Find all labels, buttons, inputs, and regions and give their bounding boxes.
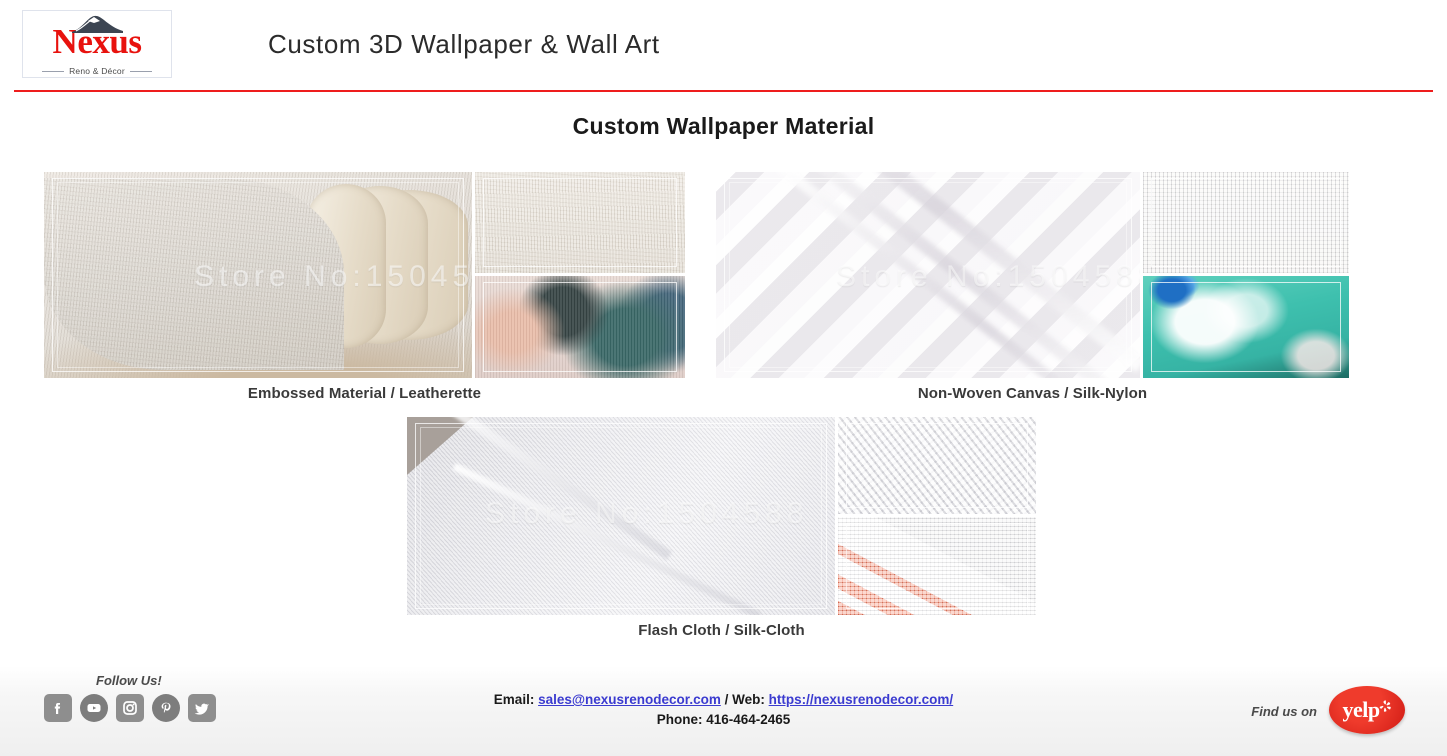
tagline-rule-right — [130, 71, 152, 72]
main-image-embossed[interactable]: Store No:1504588 — [44, 172, 472, 378]
main-image-flashcloth[interactable]: Store No:1504588 — [407, 417, 835, 615]
logo-tagline-row: Reno & Décor — [23, 66, 171, 76]
contact-line-1: Email: sales@nexusrenodecor.com / Web: h… — [0, 690, 1447, 710]
mountain-icon — [68, 14, 126, 34]
detail-image-red-print[interactable] — [838, 517, 1036, 615]
detail-stack — [838, 417, 1036, 615]
detail-image-emboss-texture[interactable] — [475, 172, 685, 273]
main-image-nonwoven[interactable]: Store No:1504588 — [716, 172, 1140, 378]
material-group-flashcloth[interactable]: Store No:1504588 Flash Cloth / Silk-Clot… — [407, 417, 1036, 639]
yelp-burst-icon — [1378, 699, 1392, 713]
phone-number: 416-464-2465 — [706, 712, 790, 727]
detail-image-bird-print[interactable] — [475, 276, 685, 378]
image-row: Store No:1504588 — [407, 417, 1036, 615]
group-caption: Non-Woven Canvas / Silk-Nylon — [716, 385, 1349, 402]
phone-label: Phone: — [657, 712, 703, 727]
website-link[interactable]: https://nexusrenodecor.com/ — [769, 692, 954, 707]
tagline-rule-left — [42, 71, 64, 72]
detail-stack — [1143, 172, 1349, 378]
contact-info: Email: sales@nexusrenodecor.com / Web: h… — [0, 690, 1447, 731]
email-label: Email: — [494, 692, 535, 707]
detail-image-dotted-weave[interactable] — [838, 417, 1036, 514]
page-title: Custom 3D Wallpaper & Wall Art — [268, 29, 660, 60]
contact-separator: / — [725, 692, 729, 707]
detail-stack — [475, 172, 685, 378]
page-header: Nexus Reno & Décor Custom 3D Wallpaper &… — [0, 0, 1447, 88]
material-group-nonwoven[interactable]: Store No:1504588 Non-Woven Canvas / Silk… — [716, 172, 1349, 402]
detail-image-floral-print[interactable] — [1143, 276, 1349, 378]
email-link[interactable]: sales@nexusrenodecor.com — [538, 692, 721, 707]
material-group-embossed[interactable]: Store No:1504588 Embossed Material / Lea… — [44, 172, 685, 402]
find-us-label: Find us on — [1251, 704, 1317, 719]
yelp-badge[interactable]: yelp — [1329, 686, 1405, 734]
image-row: Store No:1504588 — [44, 172, 685, 378]
web-label: Web: — [732, 692, 765, 707]
contact-line-2: Phone: 416-464-2465 — [0, 710, 1447, 730]
detail-image-mesh-weave[interactable] — [1143, 172, 1349, 273]
yelp-wordmark: yelp — [1342, 697, 1379, 723]
header-divider — [14, 90, 1433, 92]
group-caption: Embossed Material / Leatherette — [44, 385, 685, 402]
group-caption: Flash Cloth / Silk-Cloth — [407, 622, 1036, 639]
image-row: Store No:1504588 — [716, 172, 1349, 378]
brand-logo[interactable]: Nexus Reno & Décor — [22, 10, 172, 78]
section-title: Custom Wallpaper Material — [0, 113, 1447, 140]
follow-us-label: Follow Us! — [96, 673, 162, 688]
page-footer: Follow Us! Email: sales@nexusrenodecor.c… — [0, 666, 1447, 756]
logo-tagline: Reno & Décor — [69, 66, 125, 76]
